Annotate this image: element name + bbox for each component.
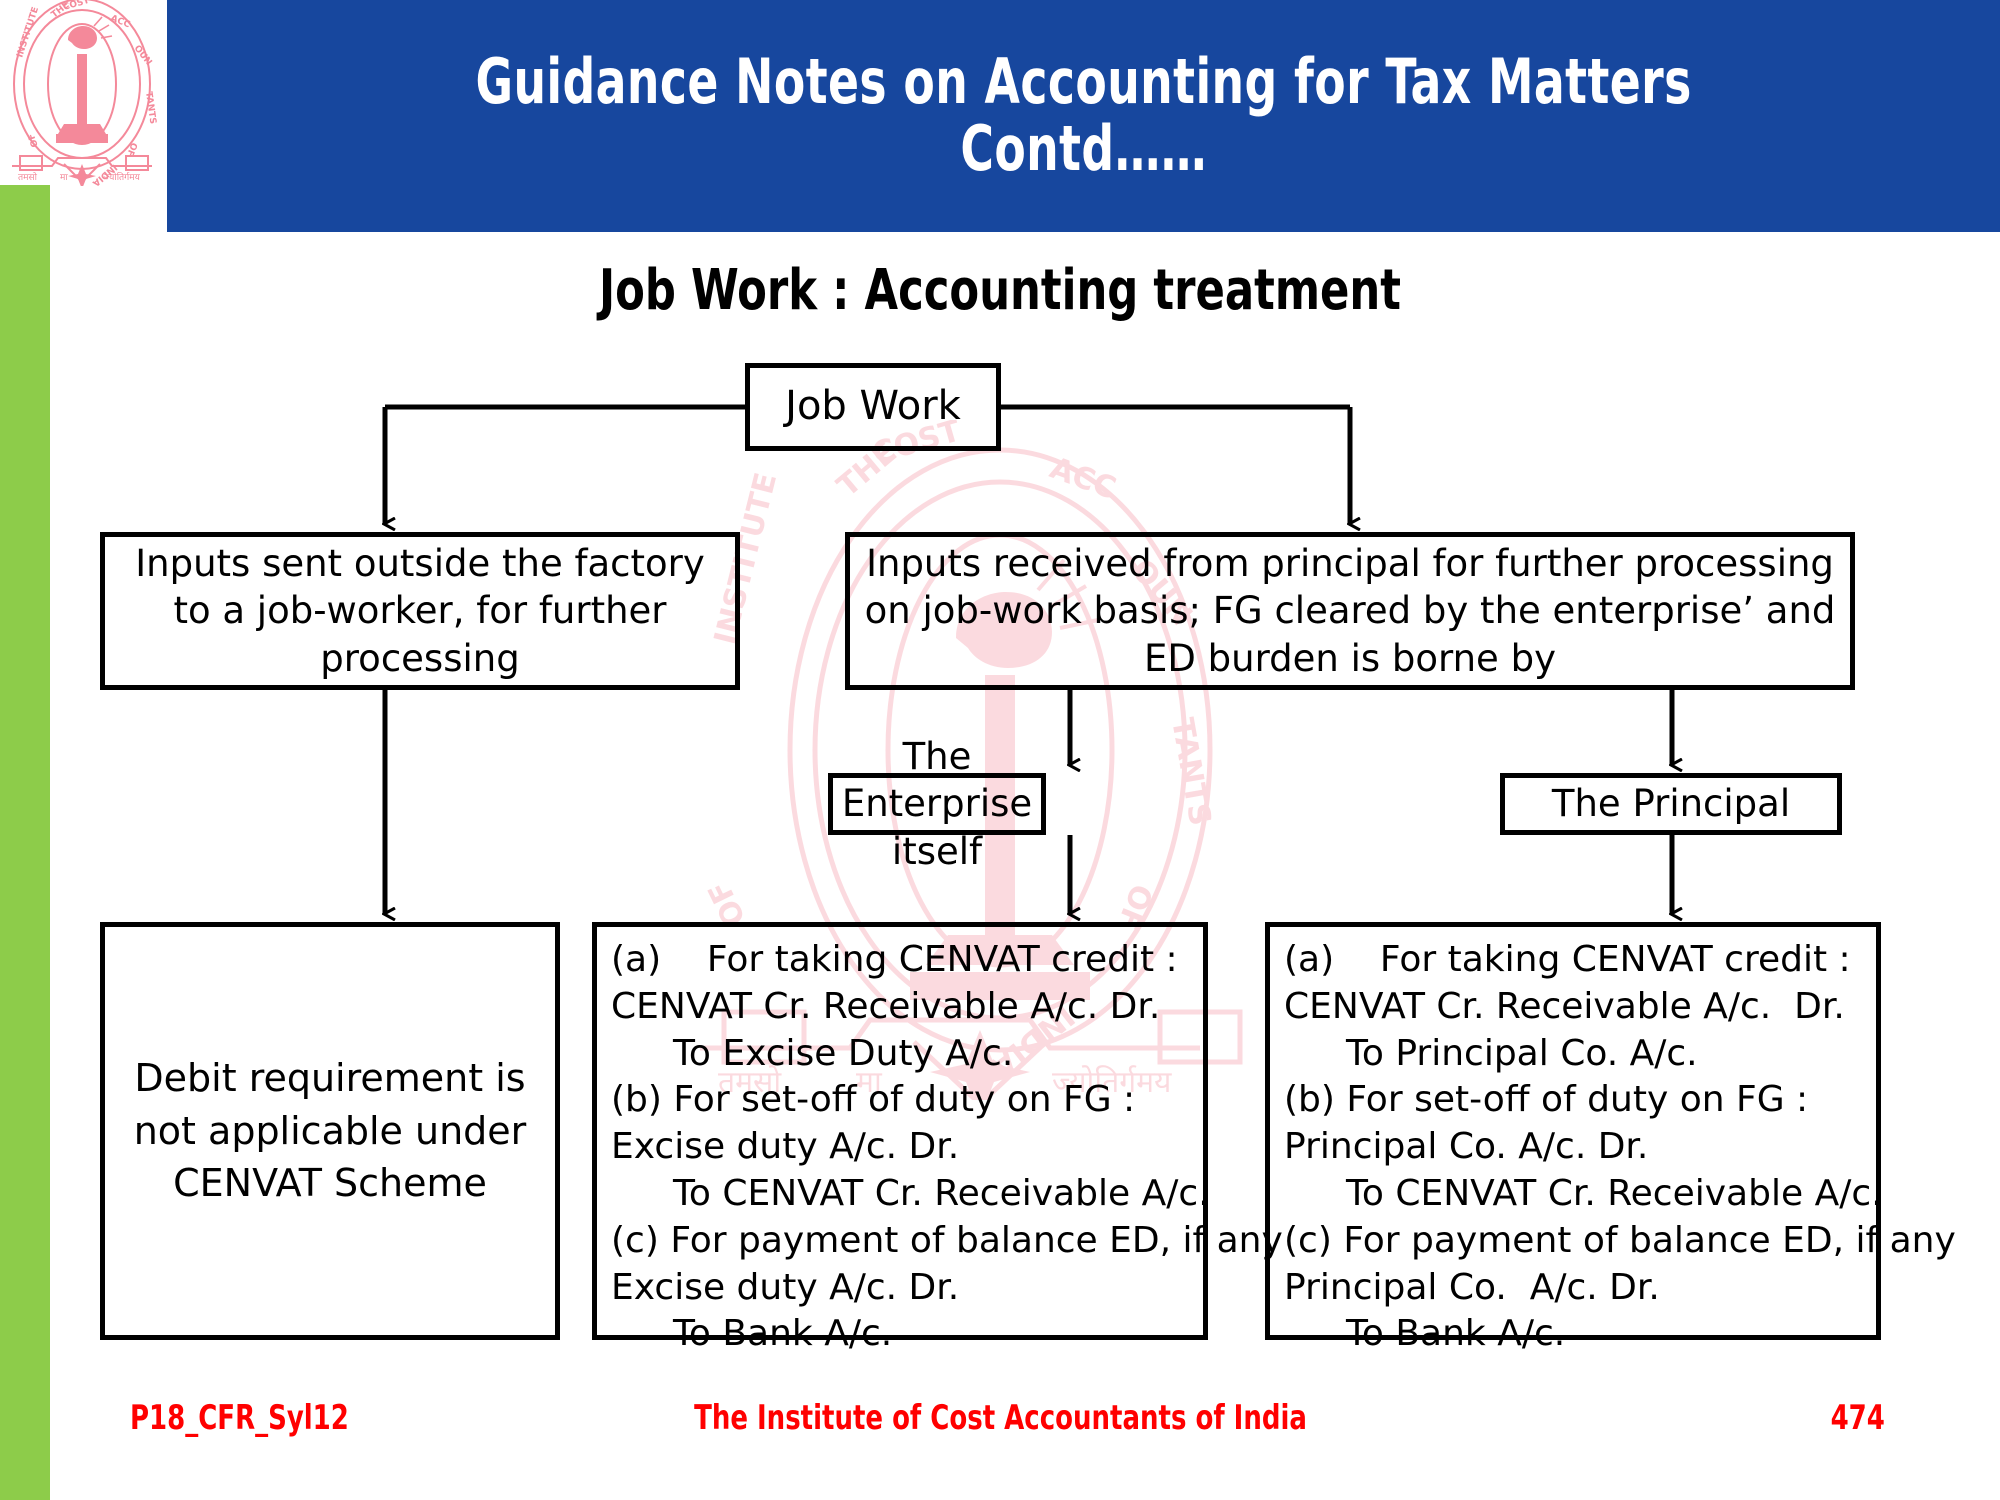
journal-entry-line: To Excise Duty A/c. xyxy=(611,1031,1203,1078)
node-inputs-received-from-principal-label: Inputs received from principal for furth… xyxy=(850,540,1850,682)
journal-entry-line: To CENVAT Cr. Receivable A/c. xyxy=(1284,1171,1876,1218)
journal-entry-line: CENVAT Cr. Receivable A/c. Dr. xyxy=(611,984,1203,1031)
node-inputs-received-from-principal: Inputs received from principal for furth… xyxy=(845,532,1855,690)
journal-entry-line: Excise duty A/c. Dr. xyxy=(611,1265,1203,1312)
node-the-enterprise-itself-label: The Enterprise itself xyxy=(833,733,1041,875)
journal-entry-line: (b) For set-off of duty on FG : xyxy=(1284,1077,1876,1124)
node-job-work-label: Job Work xyxy=(750,381,996,432)
journal-entry-line: To Bank A/c. xyxy=(611,1311,1203,1358)
journal-entry-line: Principal Co. A/c. Dr. xyxy=(1284,1265,1876,1312)
footer-page-number: 474 xyxy=(1831,1398,1885,1438)
node-the-principal-label: The Principal xyxy=(1505,780,1837,827)
journal-entry-line: Principal Co. A/c. Dr. xyxy=(1284,1124,1876,1171)
journal-entry-line: (a) For taking CENVAT credit : xyxy=(611,937,1203,984)
node-job-work: Job Work xyxy=(745,363,1001,451)
journal-entry-line: CENVAT Cr. Receivable A/c. Dr. xyxy=(1284,984,1876,1031)
journal-entry-line: (c) For payment of balance ED, if any xyxy=(611,1218,1203,1265)
node-enterprise-journal-entries: (a) For taking CENVAT credit : CENVAT Cr… xyxy=(592,922,1208,1340)
journal-entry-line: To CENVAT Cr. Receivable A/c. xyxy=(611,1171,1203,1218)
node-principal-journal-entries: (a) For taking CENVAT credit : CENVAT Cr… xyxy=(1265,922,1881,1340)
journal-entry-line: (c) For payment of balance ED, if any xyxy=(1284,1218,1876,1265)
node-debit-requirement-label: Debit requirement is not applicable unde… xyxy=(105,1052,555,1209)
node-the-enterprise-itself: The Enterprise itself xyxy=(828,773,1046,835)
footer-institute-name: The Institute of Cost Accountants of Ind… xyxy=(0,1398,2000,1438)
slide-canvas: THE INSTITUTE OF COST ACC OUN TANTS OF I… xyxy=(0,0,2000,1500)
node-the-principal: The Principal xyxy=(1500,773,1842,835)
journal-entry-line: (b) For set-off of duty on FG : xyxy=(611,1077,1203,1124)
journal-entry-line: To Principal Co. A/c. xyxy=(1284,1031,1876,1078)
journal-entry-line: Excise duty A/c. Dr. xyxy=(611,1124,1203,1171)
node-inputs-sent-outside: Inputs sent outside the factory to a job… xyxy=(100,532,740,690)
node-inputs-sent-outside-label: Inputs sent outside the factory to a job… xyxy=(105,540,735,682)
node-debit-requirement: Debit requirement is not applicable unde… xyxy=(100,922,560,1340)
journal-entry-line: (a) For taking CENVAT credit : xyxy=(1284,937,1876,984)
slide-footer: P18_CFR_Syl12 The Institute of Cost Acco… xyxy=(0,1398,2000,1458)
journal-entry-line: To Bank A/c. xyxy=(1284,1311,1876,1358)
